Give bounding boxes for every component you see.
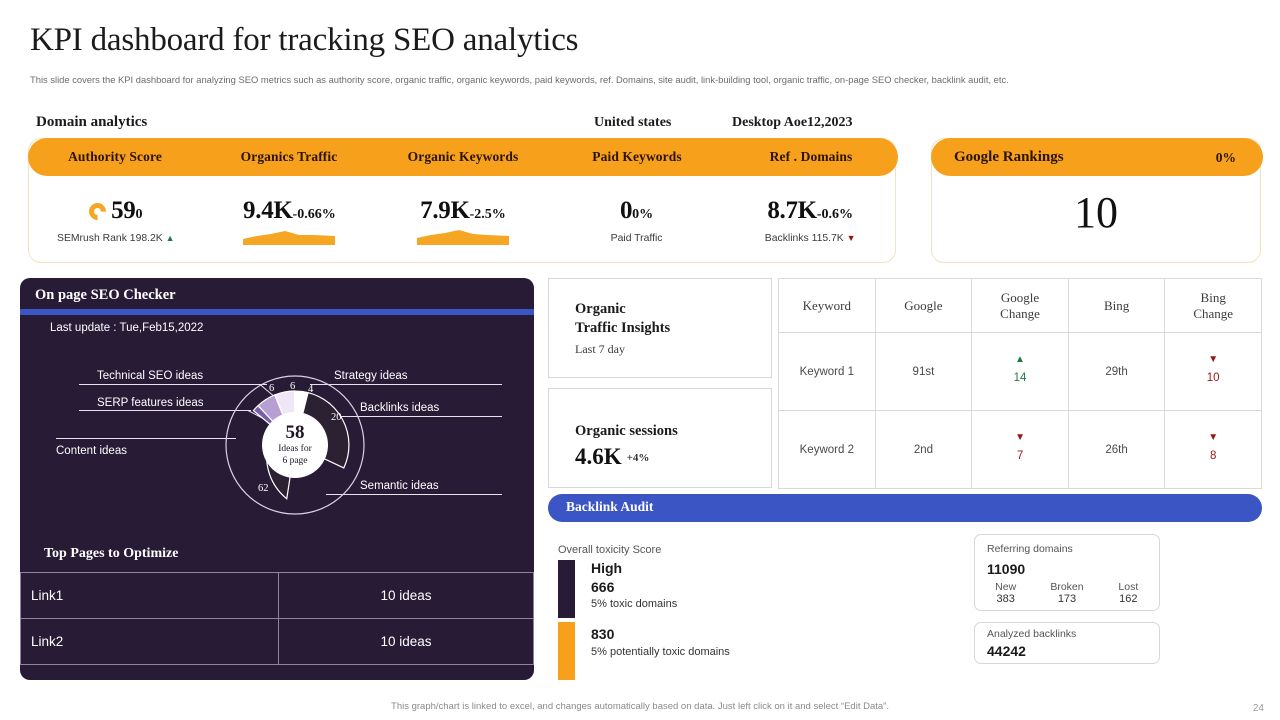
cell-google-rank: 91st [875, 333, 972, 411]
kpi-ref-sub: Backlinks 115.7K [765, 233, 844, 244]
analyzed-backlinks-box: Analyzed backlinks 44242 [974, 622, 1160, 664]
top-pages-title: Top Pages to Optimize [44, 546, 178, 562]
kpi-authority-value: 59 [111, 197, 135, 224]
organic-traffic-title-line1: Organic [575, 301, 626, 317]
google-change-value: 14 [1014, 372, 1027, 384]
backlink-audit-panel: Backlink Audit Overall toxicity Score Hi… [548, 494, 1262, 680]
google-change-value: 7 [1017, 450, 1023, 462]
kpi-ref-domains: 8.7K-0.6% Backlinks 115.7K ▼ [723, 177, 897, 263]
referring-broken-label: Broken [1036, 581, 1097, 593]
donut-center-value: 58 [220, 422, 370, 444]
organic-traffic-period: Last 7 day [575, 342, 625, 357]
donut-center-line1: Ideas for [220, 444, 370, 454]
google-rankings-title: Google Rankings [954, 149, 1064, 166]
kpi-organics-traffic: 9.4K-0.66% [203, 177, 377, 263]
kpi-paid-keywords: 00% Paid Traffic [550, 177, 724, 263]
referring-new-label: New [975, 581, 1036, 593]
google-rankings-card: Google Rankings 0% 10 [931, 138, 1261, 263]
domain-analytics-device-date: Desktop Aoe12,2023 [732, 115, 853, 131]
seo-checker-last-update: Last update : Tue,Feb15,2022 [50, 322, 203, 334]
column-organic-keywords: Organic Keywords [376, 149, 550, 165]
trend-down-icon: ▼ [1208, 432, 1218, 443]
referring-broken-value: 173 [1036, 593, 1097, 605]
toxicity-potential-desc: 5% potentially toxic domains [591, 646, 730, 658]
cell-bing-change: ▼8 [1165, 411, 1262, 489]
toxicity-high-value: 666 [591, 579, 614, 595]
kpi-paid-unit: 0% [632, 207, 653, 222]
label-technical-seo-ideas: Technical SEO ideas [97, 370, 203, 382]
keyword-rankings-table: Keyword Google GoogleChange Bing BingCha… [778, 278, 1262, 489]
domain-analytics-column-bar: Authority Score Organics Traffic Organic… [28, 138, 898, 176]
google-rankings-percent: 0% [1216, 150, 1236, 166]
kpi-organic-keywords: 7.9K-2.5% [376, 177, 550, 263]
cell-bing-rank: 29th [1068, 333, 1165, 411]
segment-value-serp: 6 [269, 383, 274, 394]
cell-bing-rank: 26th [1068, 411, 1165, 489]
sparkline-icon [417, 227, 509, 247]
donut-ring-icon [86, 199, 110, 223]
bing-change-value: 10 [1207, 372, 1220, 384]
label-serp-features-ideas: SERP features ideas [97, 397, 204, 409]
trend-up-icon: ▲ [166, 233, 175, 243]
table-header-row: Keyword Google GoogleChange Bing BingCha… [779, 279, 1262, 333]
segment-value-strategy: 4 [308, 384, 313, 395]
cell-google-change: ▲14 [972, 333, 1069, 411]
toxicity-score-label: Overall toxicity Score [558, 544, 661, 556]
top-page-link: Link1 [21, 573, 279, 619]
table-row[interactable]: Link2 10 ideas [21, 619, 534, 665]
top-page-ideas: 10 ideas [279, 619, 534, 665]
table-row[interactable]: Keyword 1 91st ▲14 29th ▼10 [779, 333, 1262, 411]
referring-domains-value: 11090 [987, 561, 1025, 577]
page-subtitle: This slide covers the KPI dashboard for … [30, 73, 1190, 86]
kpi-paid-sub: Paid Traffic [550, 233, 724, 244]
segment-value-technical: 6 [290, 381, 295, 392]
domain-analytics-card: Authority Score Organics Traffic Organic… [28, 138, 896, 263]
column-header-bing-change: BingChange [1165, 279, 1262, 333]
kpi-authority-unit: 0 [136, 207, 143, 222]
cell-keyword: Keyword 2 [779, 411, 876, 489]
organic-sessions-card: Organic sessions 4.6K+4% [548, 388, 772, 488]
kpi-keywords-value: 7.9K [420, 197, 470, 224]
trend-up-icon: ▲ [1015, 354, 1025, 365]
trend-down-icon: ▼ [1015, 432, 1025, 443]
donut-center-line2: 6 page [220, 456, 370, 466]
footer-note: This graph/chart is linked to excel, and… [0, 701, 1280, 712]
column-organics-traffic: Organics Traffic [202, 149, 376, 165]
column-authority-score: Authority Score [28, 149, 202, 165]
kpi-keywords-delta: -2.5% [470, 207, 506, 222]
backlink-audit-header-bar [548, 494, 1262, 522]
analyzed-backlinks-value: 44242 [987, 643, 1026, 659]
column-header-google: Google [875, 279, 972, 333]
kpi-authority-score: 590 SEMrush Rank 198.2K ▲ [29, 177, 203, 263]
seo-checker-divider [20, 309, 534, 315]
column-header-bing: Bing [1068, 279, 1165, 333]
label-semantic-ideas: Semantic ideas [360, 480, 439, 492]
referring-lost-label: Lost [1098, 581, 1159, 593]
table-row[interactable]: Link1 10 ideas [21, 573, 534, 619]
seo-checker-title: On page SEO Checker [35, 287, 176, 304]
page-title: KPI dashboard for tracking SEO analytics [30, 22, 578, 59]
kpi-authority-sub: SEMrush Rank 198.2K [57, 233, 163, 244]
toxicity-swatch-potential [558, 622, 575, 680]
referring-domains-box: Referring domains 11090 New 383 Broken 1… [974, 534, 1160, 611]
organic-traffic-insights-card: Organic Traffic Insights Last 7 day [548, 278, 772, 378]
cell-keyword: Keyword 1 [779, 333, 876, 411]
cell-bing-change: ▼10 [1165, 333, 1262, 411]
kpi-paid-value: 0 [620, 197, 632, 224]
top-page-ideas: 10 ideas [279, 573, 534, 619]
top-pages-table: Link1 10 ideas Link2 10 ideas [20, 572, 534, 665]
domain-analytics-header: Domain analytics United states Desktop A… [36, 114, 896, 136]
label-backlinks-ideas: Backlinks ideas [360, 402, 439, 414]
kpi-row: 590 SEMrush Rank 198.2K ▲ 9.4K-0.66% 7.9… [29, 177, 897, 263]
referring-domains-label: Referring domains [987, 543, 1073, 555]
referring-new-value: 383 [975, 593, 1036, 605]
top-page-link: Link2 [21, 619, 279, 665]
toxicity-swatch-high [558, 560, 575, 618]
domain-analytics-country: United states [594, 115, 671, 131]
column-header-google-change: GoogleChange [972, 279, 1069, 333]
label-content-ideas: Content ideas [56, 445, 127, 457]
trend-down-icon: ▼ [847, 233, 856, 243]
trend-down-icon: ▼ [1208, 354, 1218, 365]
kpi-organics-delta: -0.66% [293, 207, 336, 222]
kpi-ref-value: 8.7K [767, 197, 817, 224]
page-number: 24 [1253, 703, 1264, 714]
bing-change-value: 8 [1210, 450, 1216, 462]
column-ref-domains: Ref . Domains [724, 149, 898, 165]
google-rankings-value: 10 [932, 187, 1260, 238]
toxicity-high-desc: 5% toxic domains [591, 598, 677, 610]
toxicity-high-label: High [591, 560, 622, 576]
referring-lost-value: 162 [1098, 593, 1159, 605]
column-paid-keywords: Paid Keywords [550, 149, 724, 165]
domain-analytics-title: Domain analytics [36, 114, 147, 131]
kpi-ref-delta: -0.6% [817, 207, 853, 222]
analyzed-backlinks-label: Analyzed backlinks [987, 628, 1076, 640]
organic-sessions-delta: +4% [627, 452, 650, 464]
cell-google-change: ▼7 [972, 411, 1069, 489]
cell-google-rank: 2nd [875, 411, 972, 489]
toxicity-potential-value: 830 [591, 626, 614, 642]
organic-sessions-value: 4.6K [575, 444, 622, 469]
table-row[interactable]: Keyword 2 2nd ▼7 26th ▼8 [779, 411, 1262, 489]
organic-sessions-label: Organic sessions [575, 423, 678, 440]
kpi-organics-value: 9.4K [243, 197, 293, 224]
column-header-keyword: Keyword [779, 279, 876, 333]
sparkline-icon [243, 227, 335, 247]
leader-line-content [56, 438, 236, 439]
backlink-audit-title: Backlink Audit [566, 499, 653, 515]
ideas-donut-chart: Technical SEO ideas SERP features ideas … [20, 340, 534, 540]
organic-traffic-title-line2: Traffic Insights [575, 320, 670, 336]
organic-traffic-title: Organic Traffic Insights [575, 300, 670, 338]
segment-value-semantic: 62 [258, 483, 269, 494]
